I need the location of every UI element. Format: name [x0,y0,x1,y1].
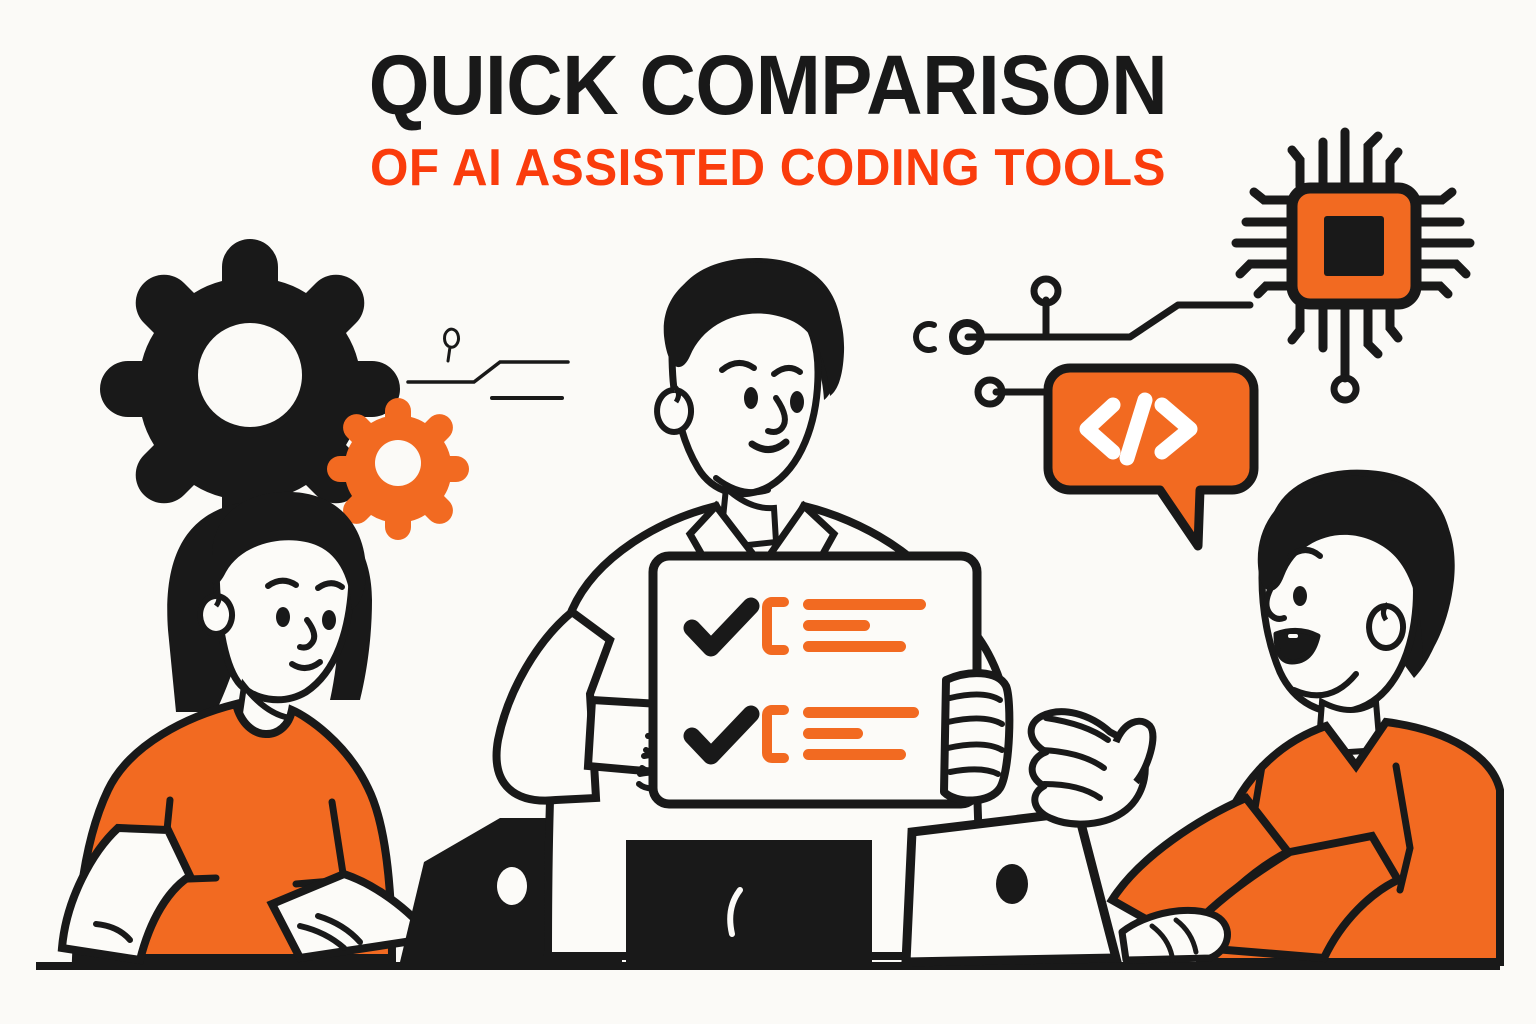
ear [1369,606,1403,648]
laptop-centre-lid [626,840,872,962]
eye-right [322,610,336,630]
bar-1-3 [803,641,906,652]
bar-2-2 [803,728,863,739]
bar-1-2 [803,620,870,631]
laptop-left-logo [497,867,527,905]
eye-left [276,607,290,627]
laptop-right [906,812,1116,962]
bar-2-1 [803,707,919,718]
laptop-right-logo [996,864,1028,904]
eye [1293,586,1307,606]
scene-artwork [0,0,1536,1024]
illustration-canvas: QUICK COMPARISON OF AI ASSISTED CODING T… [0,0,1536,1024]
laptop-centre [626,840,872,962]
bar-2-3 [803,749,906,760]
bar-1-1 [803,599,926,610]
eye-right [790,391,804,413]
board-panel [653,556,977,804]
comparison-checklist-board[interactable] [653,556,977,804]
eye-left [744,387,758,409]
hand-gripping-board [944,673,1009,800]
ear [657,390,691,432]
cpu-core [1324,216,1384,276]
